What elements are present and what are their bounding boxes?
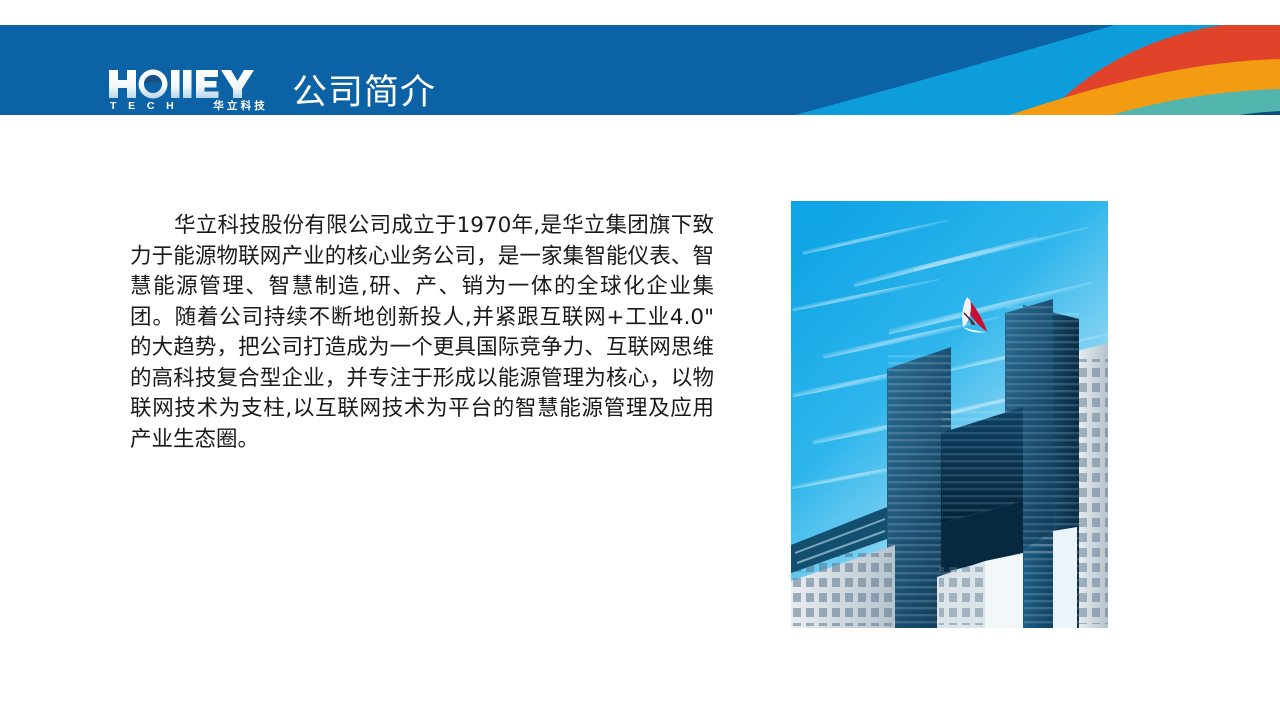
logo-subtitle-en: T E C H xyxy=(110,101,178,112)
logo-subtitle-cn: 华立科技 xyxy=(213,101,268,112)
logo-subtitle: T E C H 华立科技 xyxy=(110,99,268,113)
holley-logo: T E C H 华立科技 xyxy=(108,68,268,115)
company-photo xyxy=(791,201,1108,628)
page-title: 公司简介 xyxy=(292,70,436,115)
slide-root: T E C H 华立科技 公司简介 华立科技股份有限公司成立于1970年,是华立… xyxy=(0,0,1280,720)
company-profile-paragraph: 华立科技股份有限公司成立于1970年,是华立集团旗下致力于能源物联网产业的核心业… xyxy=(130,211,714,455)
photo-illustration xyxy=(791,201,1108,628)
holley-wordmark-icon xyxy=(108,68,268,100)
header-banner: T E C H 华立科技 公司简介 xyxy=(0,25,1280,115)
